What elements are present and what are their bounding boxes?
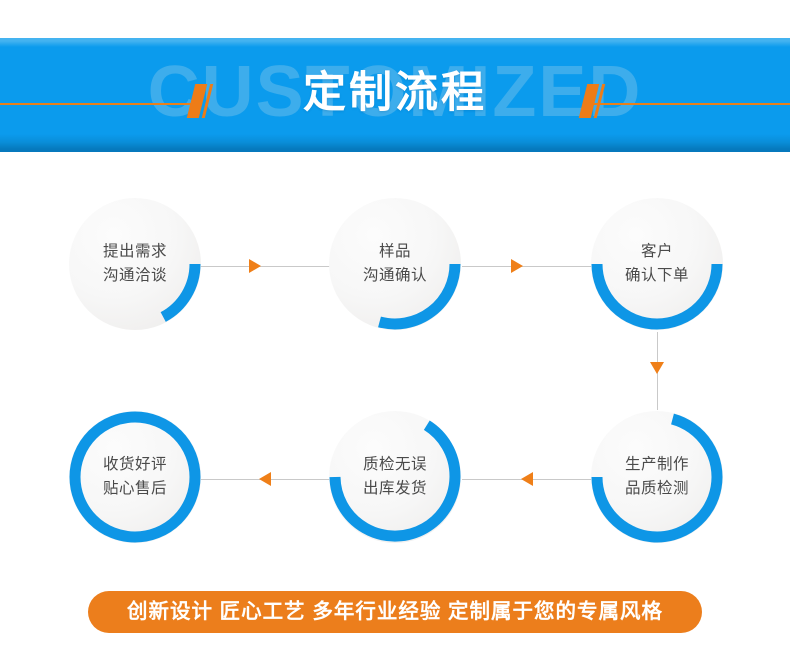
footer-tagline-banner: 创新设计 匠心工艺 多年行业经验 定制属于您的专属风格 bbox=[88, 591, 702, 633]
step-label: 质检无误 出库发货 bbox=[329, 411, 461, 543]
header-banner: CUSTOMIZED 定制流程 bbox=[0, 38, 790, 152]
step-label-line1: 生产制作 bbox=[625, 453, 689, 477]
process-step-5[interactable]: 质检无误 出库发货 bbox=[329, 411, 461, 543]
process-step-6[interactable]: 收货好评 贴心售后 bbox=[69, 411, 201, 543]
step-label-line2: 出库发货 bbox=[363, 477, 427, 501]
process-step-2[interactable]: 样品 沟通确认 bbox=[329, 198, 461, 330]
step-label: 客户 确认下单 bbox=[591, 198, 723, 330]
connector-1-to-2-arrow bbox=[249, 259, 261, 273]
step-label-line2: 确认下单 bbox=[625, 264, 689, 288]
step-label: 提出需求 沟通洽谈 bbox=[69, 198, 201, 330]
step-label-line1: 质检无误 bbox=[363, 453, 427, 477]
process-step-1[interactable]: 提出需求 沟通洽谈 bbox=[69, 198, 201, 330]
step-label: 生产制作 品质检测 bbox=[591, 411, 723, 543]
page-title: 定制流程 bbox=[0, 38, 790, 152]
footer-tagline-text: 创新设计 匠心工艺 多年行业经验 定制属于您的专属风格 bbox=[127, 602, 663, 623]
step-label: 样品 沟通确认 bbox=[329, 198, 461, 330]
connector-4-to-5-arrow bbox=[521, 472, 533, 486]
process-step-3[interactable]: 客户 确认下单 bbox=[591, 198, 723, 330]
step-label-line1: 提出需求 bbox=[103, 240, 167, 264]
customization-process-infographic: CUSTOMIZED 定制流程 bbox=[0, 0, 790, 666]
step-label-line2: 沟通洽谈 bbox=[103, 264, 167, 288]
step-label-line2: 品质检测 bbox=[625, 477, 689, 501]
step-label-line2: 贴心售后 bbox=[103, 477, 167, 501]
step-label-line1: 收货好评 bbox=[103, 453, 167, 477]
process-step-4[interactable]: 生产制作 品质检测 bbox=[591, 411, 723, 543]
step-label-line1: 样品 bbox=[379, 240, 411, 264]
step-label-line2: 沟通确认 bbox=[363, 264, 427, 288]
step-label-line1: 客户 bbox=[641, 240, 673, 264]
connector-2-to-3-line bbox=[462, 266, 593, 267]
connector-1-to-2-line bbox=[200, 266, 331, 267]
process-flow-diagram: 提出需求 沟通洽谈 样品 沟通确认 客户 确认下单 bbox=[0, 152, 790, 582]
connector-3-to-4-arrow bbox=[650, 362, 664, 374]
connector-2-to-3-arrow bbox=[511, 259, 523, 273]
connector-5-to-6-arrow bbox=[259, 472, 271, 486]
step-label: 收货好评 贴心售后 bbox=[69, 411, 201, 543]
